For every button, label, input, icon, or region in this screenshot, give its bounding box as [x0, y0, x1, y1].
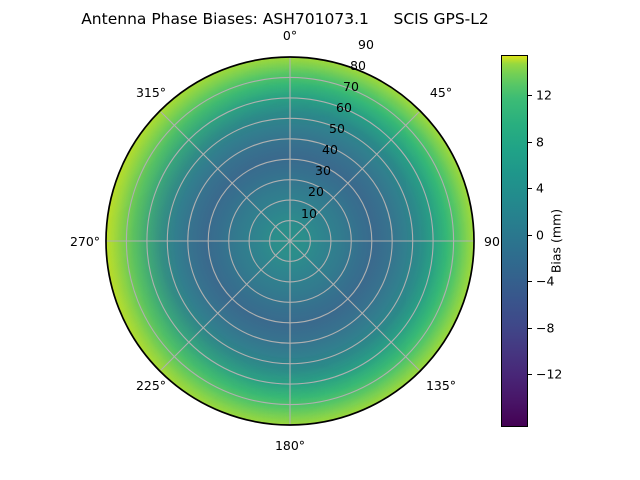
theta-tick-225: 225° [124, 378, 178, 393]
colorbar-tick-4 [528, 188, 532, 189]
colorbar-tick-8 [528, 142, 532, 143]
colorbar-tick-m12 [528, 374, 532, 375]
r-tick-20: 20 [308, 184, 324, 199]
colorbar-ticklabel-m12: −12 [536, 367, 562, 382]
r-tick-90: 90 [358, 37, 374, 52]
r-tick-50: 50 [329, 121, 345, 136]
colorbar-tick-m8 [528, 328, 532, 329]
r-tick-10: 10 [301, 206, 317, 221]
theta-tick-180: 180° [262, 438, 318, 453]
theta-tick-0: 0° [270, 28, 310, 43]
colorbar[interactable]: 12 8 4 0 −4 −8 −12 [501, 55, 528, 427]
colorbar-tick-m4 [528, 281, 532, 282]
colorbar-tick-0 [528, 235, 532, 236]
colorbar-tick-12 [528, 95, 532, 96]
polar-grid-spokes [106, 57, 474, 425]
r-tick-40: 40 [322, 142, 338, 157]
theta-tick-45: 45° [418, 85, 464, 100]
r-tick-80: 80 [350, 58, 366, 73]
colorbar-ticklabel-4: 4 [536, 181, 544, 196]
colorbar-ticklabel-m4: −4 [536, 274, 554, 289]
page-title: Antenna Phase Biases: ASH701073.1 SCIS G… [0, 10, 570, 28]
figure-canvas: Antenna Phase Biases: ASH701073.1 SCIS G… [0, 0, 640, 480]
polar-plot-svg [105, 56, 475, 426]
colorbar-ticklabel-0: 0 [536, 228, 544, 243]
colorbar-gradient [501, 55, 528, 427]
colorbar-axis-label: Bias (mm) [549, 209, 564, 273]
colorbar-ticklabel-12: 12 [536, 88, 552, 103]
r-tick-70: 70 [343, 79, 359, 94]
r-tick-30: 30 [315, 163, 331, 178]
theta-tick-315: 315° [124, 85, 178, 100]
polar-axes[interactable]: 10 20 30 40 50 60 70 80 90 [105, 56, 475, 426]
theta-tick-135: 135° [414, 378, 468, 393]
colorbar-ticklabel-m8: −8 [536, 321, 554, 336]
theta-tick-270: 270° [58, 234, 112, 249]
r-tick-60: 60 [336, 100, 352, 115]
colorbar-ticklabel-8: 8 [536, 135, 544, 150]
